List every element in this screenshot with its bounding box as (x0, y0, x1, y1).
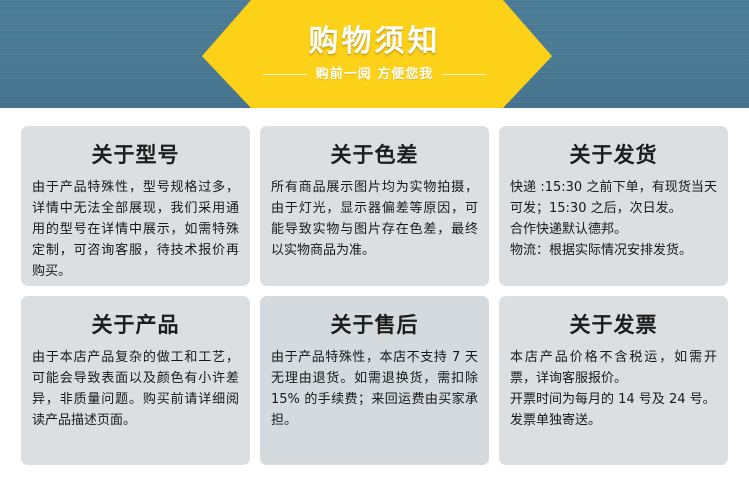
notice-card-about-invoice: 关于发票 本店产品价格不含税运，如需开票，详询客服报价。 开票时间为每月的 14… (499, 296, 728, 465)
card-body: 由于产品特殊性，型号规格过多，详情中无法全部展现，我们采用通用的型号在详情中展示… (32, 177, 239, 282)
rule-left-icon (263, 74, 307, 75)
card-title: 关于发票 (510, 314, 717, 337)
card-title: 关于售后 (271, 314, 478, 337)
card-body: 所有商品展示图片均为实物拍摄，由于灯光，显示器偏差等原因，可能导致实物与图片存在… (271, 177, 478, 261)
card-body: 由于本店产品复杂的做工和工艺，可能会导致表面以及颜色有小许差异，非质量问题。购买… (32, 347, 239, 431)
card-title: 关于型号 (32, 144, 239, 167)
notice-card-about-model: 关于型号 由于产品特殊性，型号规格过多，详情中无法全部展现，我们采用通用的型号在… (21, 126, 250, 286)
shopping-notice-page: 购物须知 购前一阅 方便您我 关于型号 由于产品特殊性，型号规格过多，详情中无法… (0, 0, 749, 497)
header-banner: 购物须知 购前一阅 方便您我 (0, 0, 749, 108)
rule-right-icon (442, 74, 486, 75)
banner-title: 购物须知 (309, 27, 441, 57)
notice-card-grid: 关于型号 由于产品特殊性，型号规格过多，详情中无法全部展现，我们采用通用的型号在… (21, 126, 729, 465)
notice-card-about-after-sales: 关于售后 由于产品特殊性，本店不支持 7 天无理由退货。如需退换货，需扣除 15… (260, 296, 489, 465)
card-title: 关于产品 (32, 314, 239, 337)
notice-card-about-shipping: 关于发货 快递 :15:30 之前下单，有现货当天可发；15:30 之后，次日发… (499, 126, 728, 286)
banner-subtitle: 购前一阅 方便您我 (307, 68, 443, 81)
banner-subtitle-row: 购前一阅 方便您我 (263, 68, 487, 81)
card-body: 由于产品特殊性，本店不支持 7 天无理由退货。如需退换货，需扣除 15% 的手续… (271, 347, 478, 431)
notice-card-about-color-difference: 关于色差 所有商品展示图片均为实物拍摄，由于灯光，显示器偏差等原因，可能导致实物… (260, 126, 489, 286)
card-title: 关于发货 (510, 144, 717, 167)
banner-content: 购物须知 购前一阅 方便您我 (0, 0, 749, 108)
card-title: 关于色差 (271, 144, 478, 167)
notice-card-about-product: 关于产品 由于本店产品复杂的做工和工艺，可能会导致表面以及颜色有小许差异，非质量… (21, 296, 250, 465)
card-body: 本店产品价格不含税运，如需开票，详询客服报价。 开票时间为每月的 14 号及 2… (510, 347, 717, 431)
card-body: 快递 :15:30 之前下单，有现货当天可发；15:30 之后，次日发。 合作快… (510, 177, 717, 261)
